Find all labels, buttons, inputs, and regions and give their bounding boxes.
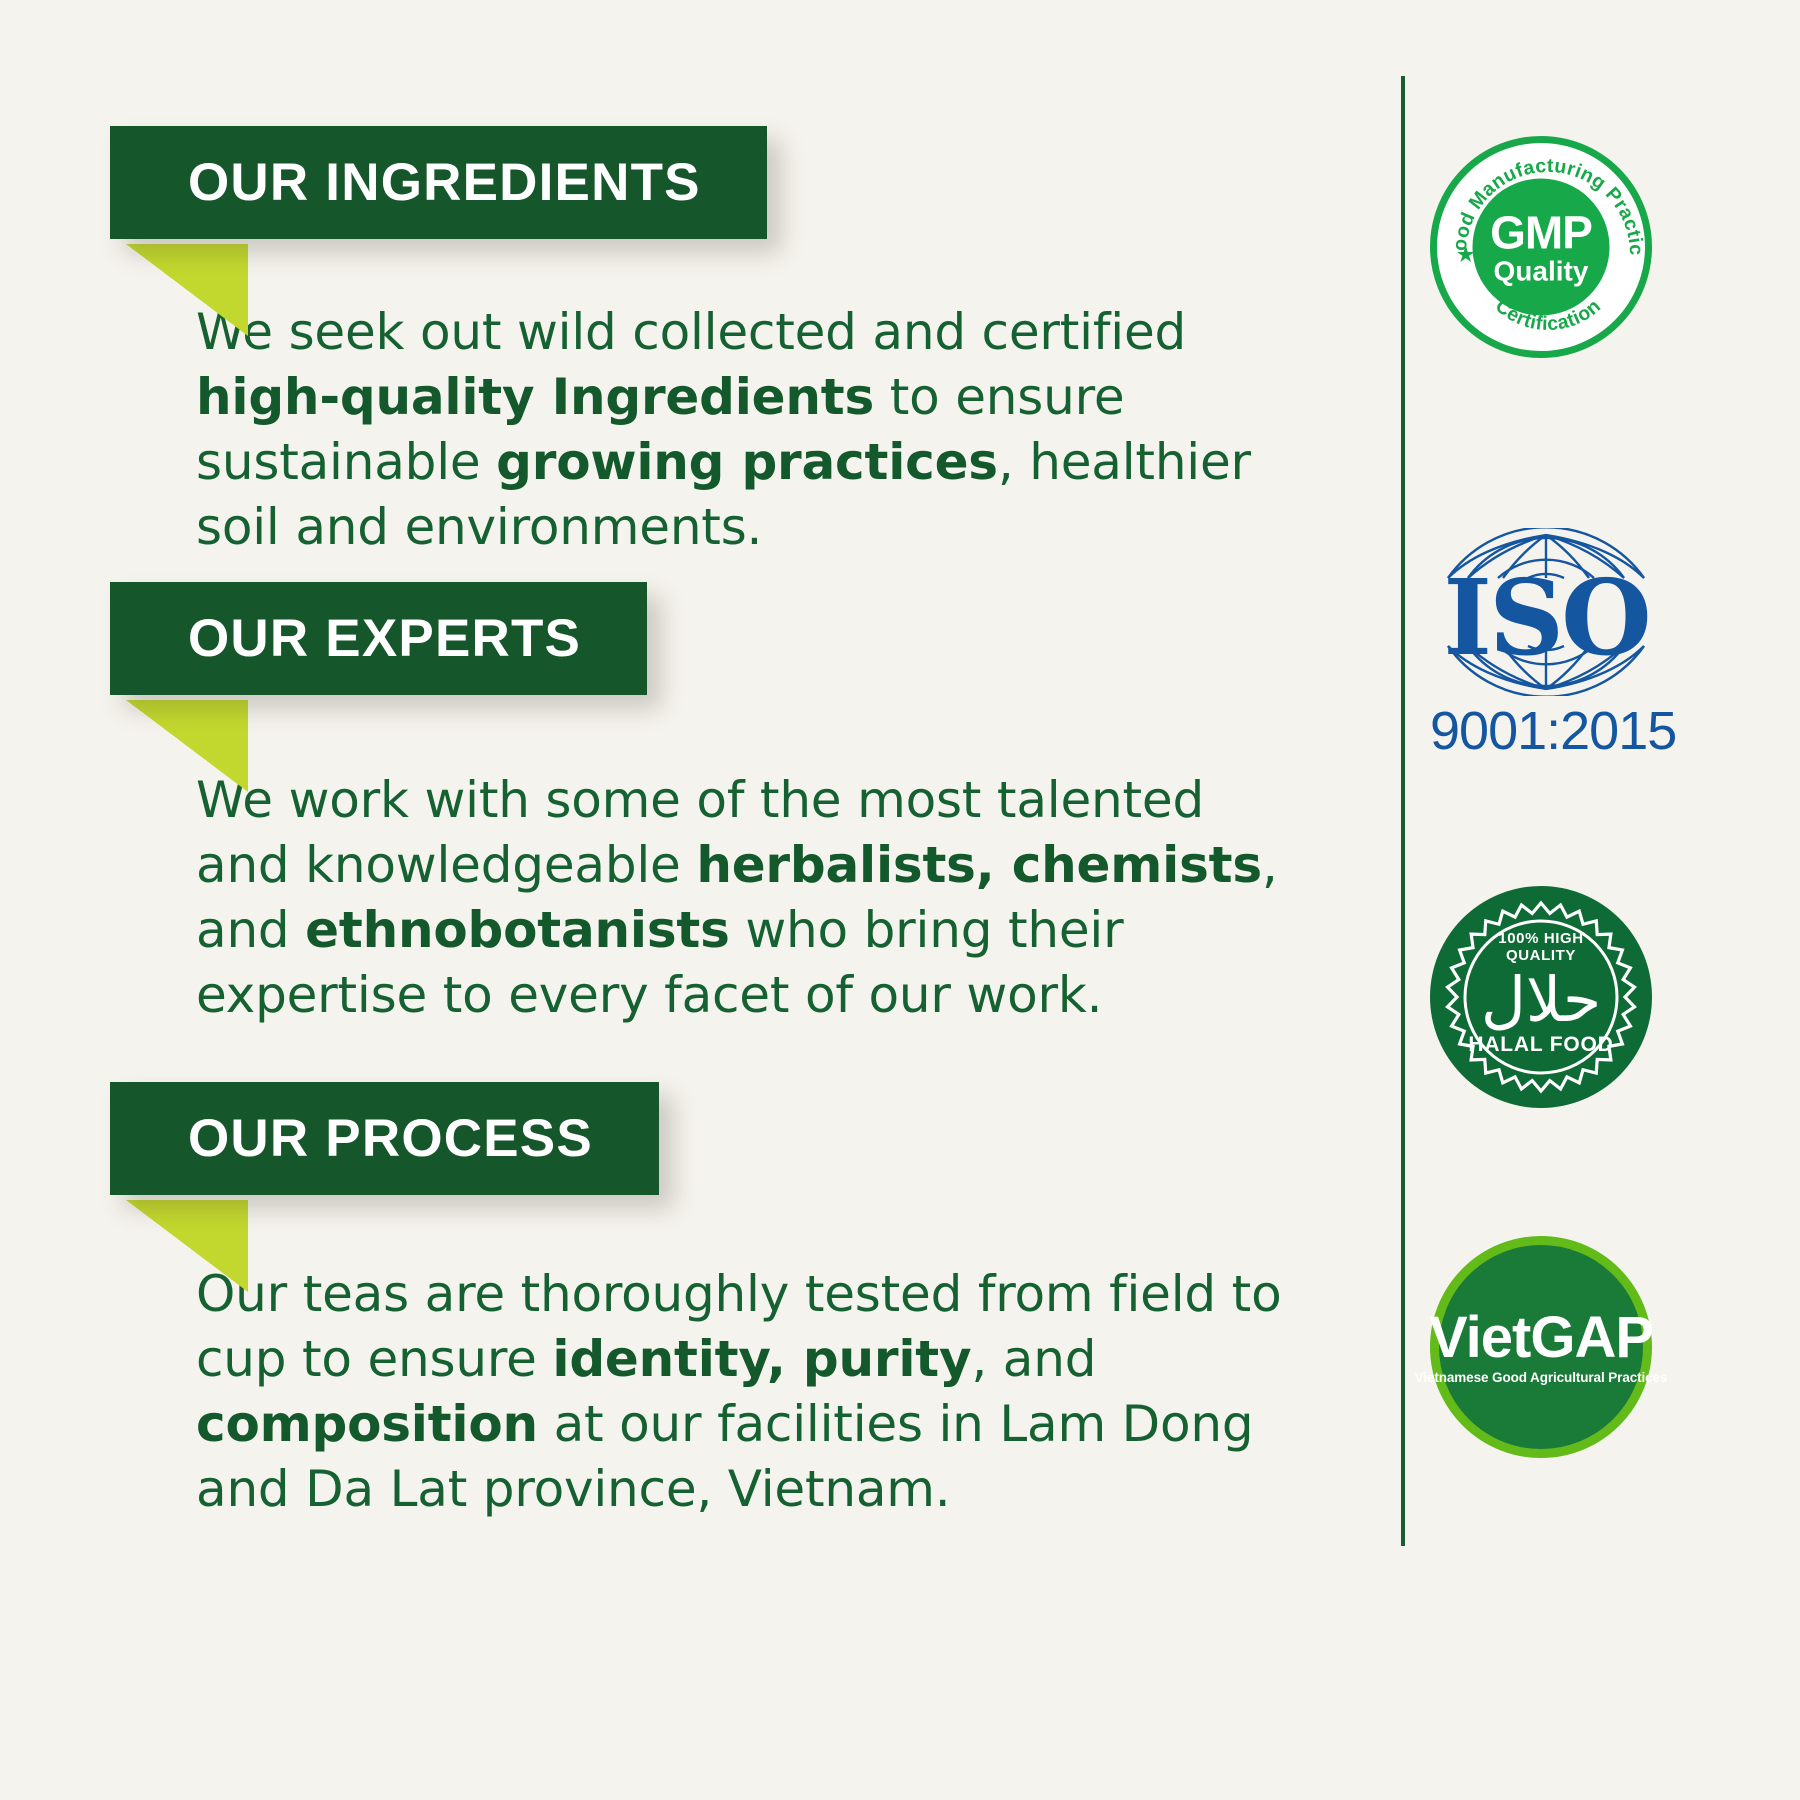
vietgap-wordmark: VietGAP <box>1429 1309 1653 1367</box>
gmp-inner-circle: GMP Quality <box>1473 179 1610 316</box>
badge-vietgap: VietGAP Vietnamese Good Agricultural Pra… <box>1430 1236 1760 1458</box>
halal-content: 100% HIGH QUALITY حلال HALAL FOOD <box>1430 937 1652 1057</box>
badge-iso: ISO <box>1430 528 1760 762</box>
ribbon-banner: OUR INGREDIENTS <box>110 126 767 239</box>
content-column: OUR INGREDIENTS We seek out wild collect… <box>0 0 1400 1800</box>
gmp-main-label: GMP <box>1490 209 1592 255</box>
gmp-quality-badge: Good Manufacturing Practice Certificatio… <box>1430 136 1652 358</box>
badge-halal: 100% HIGH QUALITY حلال HALAL FOOD <box>1430 886 1760 1108</box>
halal-quality-line1: 100% HIGH <box>1498 930 1583 947</box>
halal-food-badge: 100% HIGH QUALITY حلال HALAL FOOD <box>1430 886 1652 1108</box>
section-body-process: Our teas are thoroughly tested from fiel… <box>196 1262 1311 1522</box>
badge-gmp: Good Manufacturing Practice Certificatio… <box>1430 136 1760 358</box>
ribbon-process: OUR PROCESS <box>0 1082 1400 1195</box>
section-heading-ingredients: OUR INGREDIENTS <box>188 156 701 209</box>
iso-9001-badge: ISO <box>1430 528 1730 762</box>
infographic-page: OUR INGREDIENTS We seek out wild collect… <box>0 0 1800 1800</box>
ribbon-banner: OUR EXPERTS <box>110 582 647 695</box>
section-heading-experts: OUR EXPERTS <box>188 612 581 665</box>
globe-bottom-icon <box>1446 644 1646 696</box>
ribbon-banner: OUR PROCESS <box>110 1082 659 1195</box>
ribbon-tail-icon <box>126 1200 248 1292</box>
section-body-experts: We work with some of the most talented a… <box>196 768 1311 1028</box>
certification-badges: Good Manufacturing Practice Certificatio… <box>1430 0 1800 1800</box>
section-body-ingredients: We seek out wild collected and certified… <box>196 300 1311 560</box>
section-process: OUR PROCESS <box>0 1082 1400 1195</box>
section-experts: OUR EXPERTS <box>0 582 1400 695</box>
halal-food-label: HALAL FOOD <box>1430 1033 1652 1057</box>
vertical-divider <box>1401 76 1405 1546</box>
ribbon-experts: OUR EXPERTS <box>0 582 1400 695</box>
section-heading-process: OUR PROCESS <box>188 1112 593 1165</box>
vietgap-badge: VietGAP Vietnamese Good Agricultural Pra… <box>1430 1236 1652 1458</box>
vietgap-tagline: Vietnamese Good Agricultural Practices <box>1415 1371 1668 1385</box>
iso-standard-number: 9001:2015 <box>1430 700 1662 762</box>
gmp-sub-label: Quality <box>1494 257 1589 285</box>
iso-logo-mark: ISO <box>1430 528 1662 696</box>
ribbon-ingredients: OUR INGREDIENTS <box>0 126 1400 239</box>
halal-quality-line2: QUALITY <box>1506 947 1576 964</box>
halal-arabic-word: حلال <box>1430 969 1652 1031</box>
section-ingredients: OUR INGREDIENTS <box>0 126 1400 239</box>
halal-quality-label: 100% HIGH QUALITY <box>1430 931 1652 965</box>
